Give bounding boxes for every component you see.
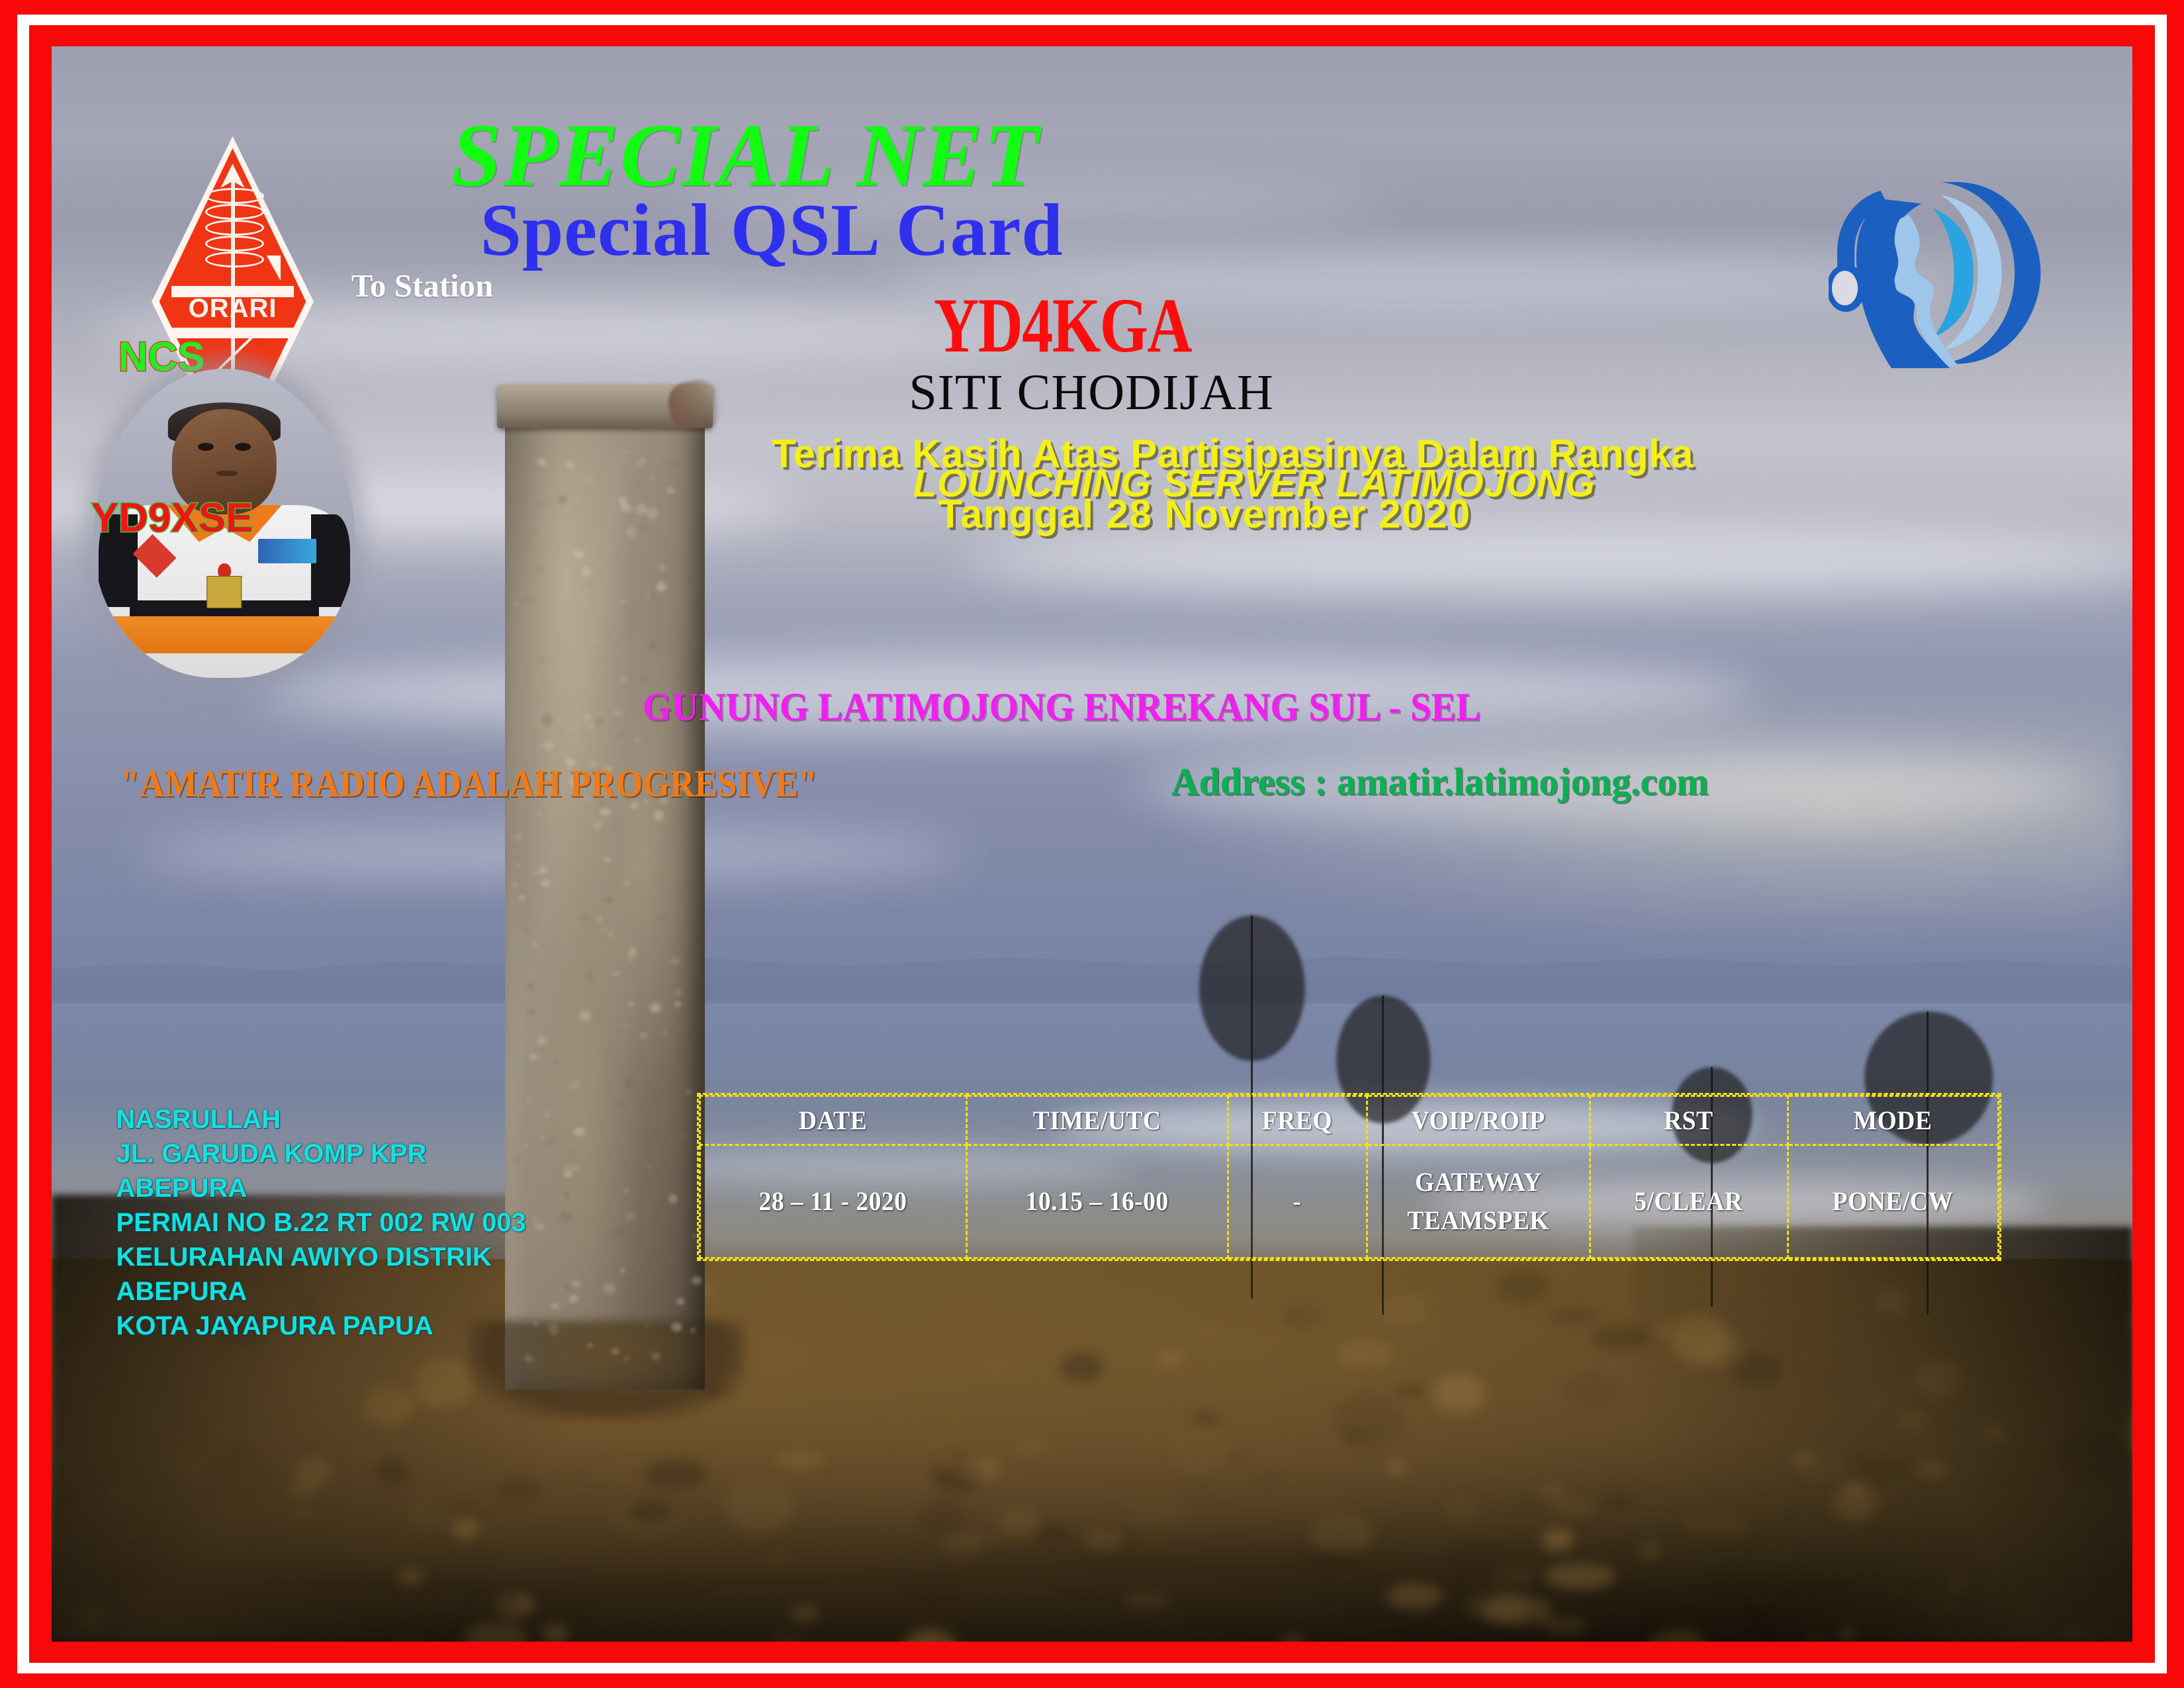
pillar-stone	[537, 812, 541, 816]
ground-speck	[725, 1477, 795, 1533]
pillar-stone	[651, 1352, 660, 1360]
pillar-stone	[676, 636, 680, 640]
pillar-stone	[666, 1216, 677, 1223]
address-line: NASRULLAH	[116, 1102, 525, 1137]
pillar-stone	[569, 1081, 580, 1089]
ground-speck	[1593, 1605, 1608, 1613]
column-header-date: DATE	[707, 1096, 958, 1145]
ground-speck	[1251, 1417, 1276, 1428]
pillar-stone	[585, 972, 594, 980]
ground-speck	[1283, 1635, 1302, 1642]
pillar-stone	[587, 723, 594, 729]
pillar-stone	[565, 1284, 570, 1289]
ground-speck	[1124, 1591, 1169, 1611]
ground-speck	[948, 1413, 965, 1419]
pillar-stone	[587, 1344, 593, 1347]
address-line: JL. GARUDA KOMP KPR	[116, 1137, 525, 1171]
pillar-stone	[542, 714, 553, 726]
pillar-stone	[692, 1276, 702, 1285]
pillar-stone	[620, 1268, 626, 1273]
column-header-voip: VOIP/ROIP	[1373, 1096, 1583, 1145]
ground-speck	[899, 1580, 956, 1621]
pillar-stone	[666, 488, 675, 493]
pillar-stone	[513, 883, 517, 886]
ground-speck	[1442, 1498, 1480, 1523]
pillar-stone	[619, 1103, 623, 1107]
pillar-stone	[676, 816, 683, 821]
uniform-shoulder	[311, 514, 350, 607]
ground-speck	[1230, 1458, 1245, 1464]
ground-speck	[1604, 1496, 1633, 1508]
pillar-stone	[540, 1049, 543, 1052]
to-station-label: To Station	[351, 267, 494, 305]
pillar-stone	[658, 913, 670, 922]
tree-crown	[1199, 915, 1305, 1061]
pillar-stone	[525, 929, 530, 933]
uniform-id-badge	[206, 576, 242, 608]
qso-log-table: DATE TIME/UTC FREQ VOIP/ROIP RST MODE 28…	[697, 1093, 2001, 1261]
pillar-stone	[646, 593, 653, 600]
ground-speck	[1124, 1488, 1188, 1529]
pillar-stone	[640, 526, 648, 530]
ground-speck	[1489, 1566, 1537, 1591]
pillar-stone	[648, 1164, 651, 1167]
pillar-stone	[615, 550, 618, 552]
card-photo-area: ORARI SPECIAL NET Special QSL Card To St	[52, 46, 2132, 1642]
pillar-stone	[611, 970, 620, 976]
pillar-stone	[537, 459, 547, 466]
pillar-stone	[514, 602, 518, 605]
ground-speck	[666, 1580, 686, 1593]
pillar-stone	[559, 1215, 570, 1223]
ground-speck	[1259, 1471, 1278, 1487]
pillar-stone	[582, 603, 588, 608]
pillar-stone	[582, 477, 594, 484]
ground-speck	[1387, 1583, 1443, 1609]
pillar-stone	[586, 588, 589, 592]
pillar-stone	[636, 504, 647, 514]
pillar-stone	[670, 958, 680, 965]
ground-speck	[989, 1363, 1005, 1368]
pillar-stone	[617, 733, 622, 737]
ground-speck	[1433, 1374, 1486, 1413]
table-row: 28 – 11 - 2020 10.15 – 16-00 - GATEWAY T…	[700, 1145, 1998, 1258]
column-header-freq: FREQ	[1232, 1096, 1363, 1145]
pillar-stone	[579, 914, 589, 921]
ground-speck	[1013, 1440, 1048, 1455]
pillar-stone	[647, 504, 651, 508]
pillar-stone	[613, 710, 623, 717]
pillar-stone	[658, 1090, 664, 1094]
pillar-stone	[536, 565, 545, 572]
pillar-stone	[657, 581, 666, 591]
motto-text: "AMATIR RADIO ADALAH PROGRESIVE"	[120, 761, 817, 806]
pillar-stone	[640, 1033, 648, 1039]
pillar-stone	[600, 927, 608, 931]
ground-speck	[1539, 1485, 1569, 1497]
pillar-stone	[565, 505, 572, 509]
pillar-stone	[621, 600, 625, 604]
pillar-stone	[608, 932, 614, 938]
ground-speck	[776, 1452, 825, 1468]
address-line: ABEPURA	[116, 1274, 525, 1309]
ground-speck	[790, 1604, 819, 1622]
pillar-stone	[613, 720, 619, 725]
ground-speck	[1388, 1460, 1406, 1474]
pillar-stone	[654, 810, 664, 821]
page-subtitle: Special QSL Card	[480, 188, 1064, 273]
pillar-stone	[531, 529, 537, 534]
pillar-stone	[635, 738, 640, 741]
pillar-stone	[545, 1136, 556, 1146]
cell-rst: 5/CLEAR	[1596, 1145, 1782, 1258]
uniform-org-logo	[258, 539, 316, 563]
pillar-stone	[669, 460, 680, 467]
ground-speck	[973, 1534, 1007, 1546]
pillar-stone	[604, 896, 614, 904]
pillar-stone	[571, 1281, 580, 1287]
pillar-stone	[607, 633, 610, 637]
orari-wordmark: ORARI	[148, 290, 318, 328]
column-header-time: TIME/UTC	[974, 1096, 1220, 1145]
ground-speck	[918, 1499, 968, 1537]
pillar-stone	[609, 1228, 617, 1238]
portrait-mouth	[216, 471, 238, 475]
pillar-stone	[660, 854, 663, 857]
pillar-stone	[612, 823, 617, 829]
pillar-stone	[590, 637, 596, 643]
pillar-stone	[659, 874, 666, 880]
pillar-stone	[611, 1348, 619, 1354]
address-line: KELURAHAN AWIYO DISTRIK	[116, 1240, 525, 1274]
station-callsign: YD4KGA	[934, 281, 1191, 371]
pillar-stone	[625, 1212, 634, 1220]
pillar-stone	[570, 727, 574, 729]
pillar-stone	[533, 1217, 539, 1221]
ground-speck	[1346, 1430, 1364, 1444]
stone-monument-pillar	[505, 400, 705, 1389]
pillar-stone	[595, 718, 604, 726]
pillar-stone	[532, 872, 537, 874]
pillar-stone	[529, 1054, 537, 1059]
pillar-stone	[659, 565, 666, 571]
pillar-stone	[659, 1066, 664, 1073]
pillar-stone	[564, 1192, 570, 1197]
pillar-stone	[525, 1100, 530, 1103]
pillar-stone	[526, 1008, 536, 1015]
pillar-stone	[687, 1090, 691, 1094]
pillar-stone	[573, 551, 584, 558]
pillar-stone	[538, 867, 547, 874]
cell-time: 10.15 – 16-00	[974, 1145, 1220, 1258]
pillar-stone	[582, 567, 591, 577]
cell-date: 28 – 11 - 2020	[707, 1145, 958, 1258]
table-header-row: DATE TIME/UTC FREQ VOIP/ROIP RST MODE	[700, 1096, 1998, 1145]
ground-speck	[944, 1628, 960, 1637]
pillar-stone	[674, 1001, 681, 1008]
pillar-stone	[676, 990, 682, 996]
ground-speck	[1304, 1552, 1365, 1576]
pillar-stone	[541, 880, 551, 886]
pillar-stone	[514, 833, 523, 841]
pillar-stone	[671, 1323, 682, 1332]
pillar-stone	[605, 1078, 610, 1083]
location-line: GUNUNG LATIMOJONG ENREKANG SUL - SEL	[643, 684, 1481, 730]
pillar-stone	[515, 863, 522, 867]
uniform-sash	[109, 616, 340, 653]
station-address-block: NASRULLAHJL. GARUDA KOMP KPRABEPURAPERMA…	[116, 1102, 525, 1343]
ground-speck	[1310, 1514, 1375, 1554]
cell-freq: -	[1232, 1145, 1363, 1258]
pillar-stone	[692, 1235, 696, 1238]
pillar-stone	[540, 500, 547, 508]
ground-speck	[1484, 1596, 1553, 1626]
pillar-stone	[643, 1323, 650, 1327]
ground-speck	[766, 1553, 792, 1568]
ground-speck	[1156, 1351, 1183, 1366]
pillar-stone	[527, 982, 534, 990]
pillar-stone	[639, 673, 649, 683]
cell-voip: GATEWAY TEAMSPEK	[1373, 1145, 1583, 1258]
pillar-stone	[573, 1166, 579, 1171]
cell-voip-line1: GATEWAY	[1375, 1163, 1582, 1201]
ground-speck	[1338, 1338, 1392, 1368]
pillar-stone	[537, 656, 546, 664]
pillar-stone	[627, 1002, 635, 1008]
ground-speck	[1549, 1308, 1602, 1325]
pillar-stone	[655, 1006, 658, 1010]
pillar-stone	[623, 880, 630, 885]
pillar-stone	[637, 457, 647, 466]
orari-coil-icon	[205, 188, 259, 264]
pillar-stone	[532, 943, 537, 947]
ncs-callsign: YD9XSE	[91, 494, 253, 541]
ground-speck	[1394, 1385, 1426, 1397]
pillar-stone	[525, 461, 532, 467]
ground-speck	[1542, 1528, 1573, 1551]
pillar-stone	[664, 1032, 668, 1035]
address-line: PERMAI NO B.22 RT 002 RW 003	[116, 1205, 525, 1240]
pillar-stone	[593, 820, 602, 830]
address-line: KOTA JAYAPURA PAPUA	[116, 1309, 525, 1343]
ground-speck	[918, 1434, 958, 1446]
cell-mode: PONE/CW	[1794, 1145, 1992, 1258]
pillar-stone	[533, 1321, 537, 1326]
ground-speck	[1189, 1487, 1210, 1495]
pillar-stone	[559, 729, 565, 735]
address-line: ABEPURA	[116, 1171, 525, 1205]
pillar-stone	[678, 888, 684, 894]
ground-speck	[940, 1457, 956, 1469]
qsl-card: ORARI SPECIAL NET Special QSL Card To St	[0, 0, 2184, 1688]
pillar-stone	[677, 661, 684, 665]
ground-speck	[1545, 1564, 1615, 1589]
ground-speck	[1565, 1374, 1618, 1407]
pillar-stone	[680, 1132, 690, 1139]
pillar-stone	[558, 496, 567, 504]
ground-speck	[874, 1295, 938, 1327]
pillar-stone	[625, 1077, 635, 1088]
pillar-stone	[614, 1103, 617, 1107]
ground-speck	[645, 1460, 708, 1489]
pillar-stone	[645, 1350, 649, 1354]
ground-speck	[1281, 1304, 1321, 1328]
pillar-stone	[616, 929, 624, 934]
ground-speck	[1551, 1498, 1596, 1516]
pillar-stone	[573, 1150, 577, 1154]
pillar-stone	[525, 541, 531, 545]
pillar-stone	[579, 594, 585, 597]
pillar-stone	[623, 1188, 629, 1194]
ground-speck	[1201, 1326, 1218, 1338]
pillar-stone	[676, 1298, 684, 1305]
pillar-stone	[535, 1223, 545, 1230]
ground-speck	[1061, 1352, 1104, 1382]
pillar-stone	[621, 1024, 627, 1028]
portrait-eye	[235, 443, 251, 451]
pillar-stone	[623, 1356, 629, 1361]
pillar-stone	[544, 1111, 549, 1117]
ground-speck	[1541, 1617, 1588, 1633]
pillar-stone	[574, 1127, 585, 1137]
pillar-stone	[604, 1283, 615, 1295]
ground-speck	[999, 1505, 1040, 1538]
pillar-stone	[633, 866, 637, 868]
pillar-stone	[562, 1355, 567, 1360]
pillar-stone	[583, 713, 592, 720]
pillar-stone	[519, 894, 526, 900]
pillar-stone	[628, 957, 633, 961]
cell-voip-line2: TEAMSPEK	[1375, 1201, 1582, 1240]
pillar-stone	[691, 577, 702, 584]
operator-name: SITI CHODIJAH	[909, 364, 1273, 422]
pillar-stone	[597, 917, 602, 921]
column-header-rst: RST	[1596, 1096, 1782, 1145]
ground-speck	[1118, 1415, 1182, 1453]
column-header-mode: MODE	[1794, 1096, 1992, 1145]
pillar-stone	[651, 477, 655, 479]
pillar-stone	[635, 479, 645, 486]
pillar-stone	[580, 1010, 591, 1021]
pillar-stone	[635, 1311, 643, 1317]
pillar-stone	[677, 673, 686, 683]
pillar-stone	[668, 1194, 678, 1203]
ground-speck	[1477, 1307, 1508, 1325]
pillar-stone	[537, 1036, 547, 1045]
pillar-stone	[624, 450, 629, 453]
web-address[interactable]: Address : amatir.latimojong.com	[1171, 759, 1708, 804]
pillar-stone	[685, 638, 696, 648]
pillar-stone	[518, 494, 527, 504]
headset-profile-soundwave-icon	[1829, 128, 2045, 418]
pillar-stone	[594, 1013, 598, 1015]
ground-speck	[1496, 1270, 1550, 1302]
pillar-stone	[551, 1303, 559, 1309]
pillar-stone	[543, 741, 554, 749]
pillar-stone	[647, 508, 658, 520]
pillar-stone	[553, 1060, 559, 1064]
pillar-stone	[525, 1180, 531, 1186]
ground-speck	[773, 1633, 803, 1642]
pillar-stone	[629, 948, 637, 957]
pillar-stone	[649, 642, 657, 649]
pillar-stone	[626, 527, 636, 538]
ground-speck	[1087, 1531, 1126, 1552]
pillar-stone	[523, 596, 532, 603]
pillar-stone	[663, 620, 666, 622]
pillar-stone	[566, 462, 574, 468]
ground-speck	[1332, 1393, 1404, 1448]
pillar-stone	[574, 495, 579, 498]
pillar-stone	[604, 857, 611, 863]
ground-speck	[957, 1457, 1002, 1480]
event-date-line: Tanggal 28 November 2020	[938, 491, 1471, 537]
pillar-stone	[628, 509, 633, 512]
pillar-stone	[619, 677, 627, 682]
